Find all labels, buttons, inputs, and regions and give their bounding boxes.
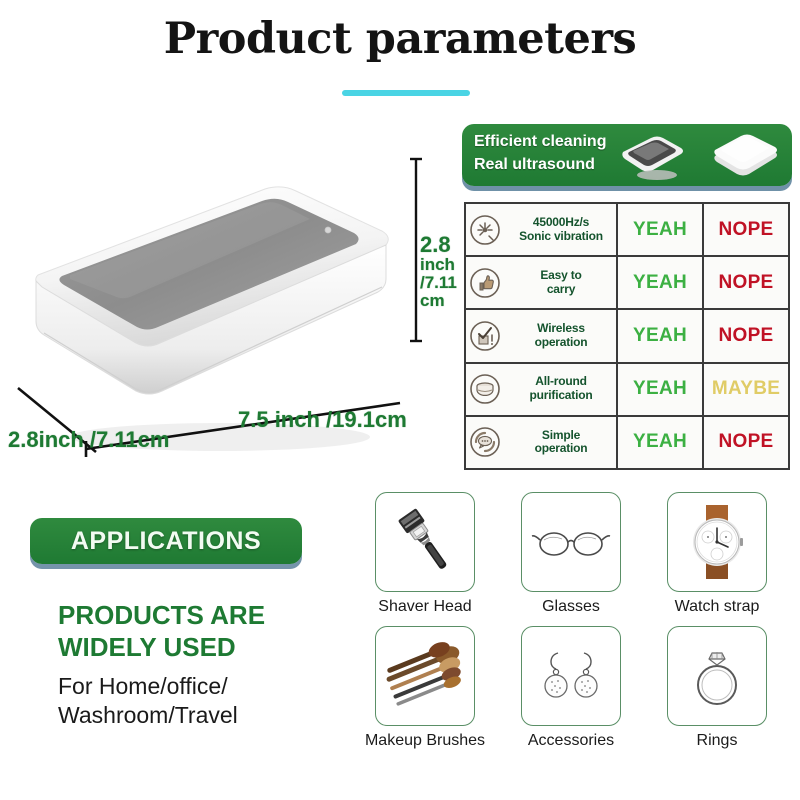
verdict-theirs: NOPE [718, 431, 773, 453]
theirs-cell: NOPE [704, 204, 788, 255]
verdict-theirs: MAYBE [712, 378, 780, 400]
earrings-icon [528, 633, 614, 719]
watch-icon [674, 499, 760, 585]
page-title: Product parameters [0, 14, 800, 64]
applications-button[interactable]: APPLICATIONS [30, 518, 302, 564]
glasses-icon [528, 499, 614, 585]
application-label: Glasses [542, 598, 600, 616]
application-card [375, 626, 475, 726]
applications-headline: PRODUCTS ARE WIDELY USED [58, 600, 328, 663]
height-dimension-label: 2.8 inch /7.11 cm [420, 233, 466, 310]
application-item-watch-strap[interactable]: Watch strap [644, 492, 790, 616]
thumbs-up-icon [468, 266, 502, 300]
efficient-cleaning-banner: Efficient cleaning Real ultrasound [462, 124, 792, 186]
application-card [521, 492, 621, 592]
depth-dimension-label: 2.8inch /7.11cm [8, 428, 169, 451]
feature-cell: 45000Hz/s Sonic vibration [466, 204, 618, 255]
simple-operation-icon [468, 425, 502, 459]
theirs-cell: NOPE [704, 310, 788, 361]
comparison-table: 45000Hz/s Sonic vibration YEAH NOPE Easy… [464, 202, 790, 470]
ring-icon [674, 633, 760, 719]
closed-cleaner-thumbnail [707, 130, 783, 180]
application-label: Accessories [528, 732, 614, 750]
feature-label: 45000Hz/s Sonic vibration [506, 216, 616, 244]
verdict-theirs: NOPE [718, 325, 773, 347]
table-row: All-round purification YEAH MAYBE [466, 364, 788, 417]
feature-label: All-round purification [506, 375, 616, 403]
verdict-ours: YEAH [633, 219, 687, 241]
sonic-vibration-icon [468, 213, 502, 247]
product-parameters-infographic: Product parameters [0, 0, 800, 800]
feature-label: Wireless operation [506, 322, 616, 350]
width-dimension-label: 7.5 inch /19.1cm [238, 408, 407, 431]
applications-subtext: For Home/office/ Washroom/Travel [58, 672, 348, 731]
height-dimension-unit-cm-value: /7.11 [420, 274, 466, 292]
shaver-head-icon [382, 499, 468, 585]
title-underline-accent [342, 90, 470, 96]
application-card [375, 492, 475, 592]
table-row: 45000Hz/s Sonic vibration YEAH NOPE [466, 204, 788, 257]
theirs-cell: MAYBE [704, 364, 788, 415]
applications-button-label: APPLICATIONS [71, 527, 261, 556]
ours-cell: YEAH [618, 204, 704, 255]
makeup-brushes-icon [382, 633, 468, 719]
application-item-makeup-brushes[interactable]: Makeup Brushes [352, 626, 498, 750]
feature-cell: Easy to carry [466, 257, 618, 308]
ours-cell: YEAH [618, 417, 704, 468]
verdict-ours: YEAH [633, 272, 687, 294]
feature-cell: Wireless operation [466, 310, 618, 361]
height-dimension-value: 2.8 [420, 232, 451, 257]
application-card [521, 626, 621, 726]
ours-cell: YEAH [618, 257, 704, 308]
feature-cell: Simple operation [466, 417, 618, 468]
verdict-ours: YEAH [633, 378, 687, 400]
verdict-ours: YEAH [633, 431, 687, 453]
table-row: Simple operation YEAH NOPE [466, 417, 788, 468]
application-item-glasses[interactable]: Glasses [498, 492, 644, 616]
height-dimension-unit-cm: cm [420, 292, 466, 310]
table-row: Wireless operation YEAH NOPE [466, 310, 788, 363]
open-cleaner-thumbnail [617, 130, 689, 180]
application-label: Makeup Brushes [365, 732, 485, 750]
ours-cell: YEAH [618, 310, 704, 361]
application-item-accessories[interactable]: Accessories [498, 626, 644, 750]
applications-grid-row: Makeup Brushes [352, 626, 792, 750]
purification-bowl-icon [468, 372, 502, 406]
feature-cell: All-round purification [466, 364, 618, 415]
verdict-theirs: NOPE [718, 272, 773, 294]
application-card [667, 626, 767, 726]
theirs-cell: NOPE [704, 417, 788, 468]
application-card [667, 492, 767, 592]
ours-cell: YEAH [618, 364, 704, 415]
feature-label: Easy to carry [506, 269, 616, 297]
feature-label: Simple operation [506, 429, 616, 457]
wireless-check-icon [468, 319, 502, 353]
theirs-cell: NOPE [704, 257, 788, 308]
verdict-ours: YEAH [633, 325, 687, 347]
applications-grid: Shaver Head [352, 492, 792, 749]
depth-dimension-line [10, 380, 120, 470]
application-item-rings[interactable]: Rings [644, 626, 790, 750]
application-label: Watch strap [675, 598, 760, 616]
height-dimension-unit-inch: inch [420, 256, 466, 274]
verdict-theirs: NOPE [718, 219, 773, 241]
application-label: Shaver Head [378, 598, 471, 616]
banner-text: Efficient cleaning Real ultrasound [474, 130, 606, 176]
application-item-shaver-head[interactable]: Shaver Head [352, 492, 498, 616]
application-label: Rings [697, 732, 738, 750]
applications-grid-row: Shaver Head [352, 492, 792, 616]
table-row: Easy to carry YEAH NOPE [466, 257, 788, 310]
